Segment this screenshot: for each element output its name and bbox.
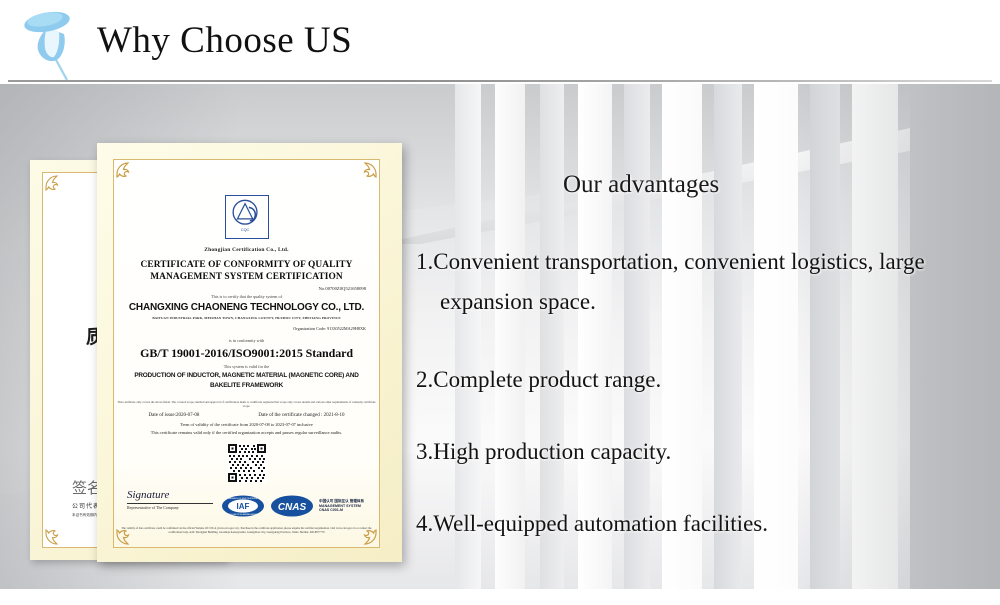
certificate-scope-lead: This system is valid for the: [113, 364, 380, 369]
certificate-validity: Term of validity of the certificate from…: [117, 422, 376, 427]
advantage-item-1: 1.Convenient transportation, convenient …: [416, 242, 1000, 322]
advantages-section: Our advantages 1.Convenient transportati…: [408, 84, 1000, 605]
certificate-signature: Signature: [127, 489, 213, 504]
header: Why Choose US: [0, 0, 1000, 84]
certificate-scope-line2: BAKELITE FRAMEWORK: [119, 381, 374, 391]
svg-text:MEMBER OF MULTILATERAL: MEMBER OF MULTILATERAL: [228, 497, 259, 500]
certificate-number: No.00700Z0Q521658098: [113, 286, 366, 291]
certificate-date-changed: Date of the certificate changed : 2021-8…: [258, 413, 344, 418]
certificate-title: CERTIFICATE OF CONFORMITY OF QUALITY MAN…: [113, 259, 380, 283]
cnas-badge-icon: CNAS: [270, 495, 314, 517]
certificate-footer-note: The validity of data certificate could b…: [121, 527, 372, 535]
cnas-badge-line2: CNAS C001-M: [319, 508, 364, 513]
advantage-item-4: 4.Well-equipped automation facilities.: [416, 504, 768, 544]
certificate-issuer: Zhongjian Certification Co., Ltd.: [113, 247, 380, 253]
why-choose-us-banner: Why Choose US Our advantages 1.Conv: [0, 0, 1000, 605]
advantage-item-2: 2.Complete product range.: [416, 360, 661, 400]
advantage-4-line1: Well-equipped automation facilities.: [433, 511, 768, 536]
certificate-surveillance-note: This certificate remains valid only if t…: [117, 430, 376, 435]
advantage-1-number: 1.: [416, 249, 433, 274]
accreditation-badges: IAF MEMBER OF MULTILATERAL RECOGNITION A…: [221, 495, 364, 517]
advantage-2-line1: Complete product range.: [433, 367, 661, 392]
certificate-scope: PRODUCTION OF INDUCTOR, MAGNETIC MATERIA…: [119, 371, 374, 391]
certificate-legal-note: This certificate only covers the above f…: [117, 400, 376, 409]
certificate-standard: GB/T 19001-2016/ISO9001:2015 Standard: [113, 346, 380, 361]
certificate-scope-line1: PRODUCTION OF INDUCTOR, MAGNETIC MATERIA…: [119, 371, 374, 381]
certificate-signature-block: Signature Representative of The Company: [127, 489, 213, 510]
advantages-heading: Our advantages: [563, 171, 719, 199]
advantage-2-number: 2.: [416, 367, 433, 392]
iaf-badge-icon: IAF MEMBER OF MULTILATERAL RECOGNITION A…: [221, 495, 265, 517]
ornament-corner-icon: [44, 174, 70, 200]
certificate-address: BAITUAN INDUSTRIAL PARK, MEISHAN TOWN, C…: [117, 316, 376, 320]
certificate-title-line2: MANAGEMENT SYSTEM CERTIFICATION: [113, 271, 380, 283]
advantage-1-line2: expansion space.: [416, 282, 1000, 322]
svg-text:IAF: IAF: [237, 502, 250, 511]
certificate-date-of-issue: Date of issue:2020-07-08: [149, 413, 200, 418]
cqc-logo-icon: CQC: [225, 195, 269, 239]
advantage-3-number: 3.: [416, 439, 433, 464]
certificate-front: CQC Zhongjian Certification Co., Ltd. CE…: [97, 143, 402, 562]
pushpin-icon: [14, 6, 88, 82]
advantage-1-line1: Convenient transportation, convenient lo…: [433, 249, 924, 274]
advantage-3-line1: High production capacity.: [433, 439, 671, 464]
ornament-corner-icon: [115, 161, 141, 187]
certificate-title-line1: CERTIFICATE OF CONFORMITY OF QUALITY: [113, 259, 380, 271]
certificate-front-inner: CQC Zhongjian Certification Co., Ltd. CE…: [113, 159, 380, 548]
ornament-corner-icon: [352, 161, 378, 187]
advantage-item-3: 3.High production capacity.: [416, 432, 671, 472]
svg-text:RECOGNITION ARRANGEMENT: RECOGNITION ARRANGEMENT: [227, 513, 261, 516]
certificate-conformity-lead: is in conformity with: [113, 338, 380, 343]
cnas-badge-text: 中国认可 国际互认 管理体系 MANAGEMENT SYSTEM CNAS C0…: [319, 499, 364, 513]
svg-text:CQC: CQC: [240, 228, 249, 232]
ornament-corner-icon: [44, 520, 70, 546]
certificate-company-name: CHANGXING CHAONENG TECHNOLOGY CO., LTD.: [113, 302, 380, 313]
svg-text:CNAS: CNAS: [278, 502, 307, 513]
certificate-signature-caption: Representative of The Company: [127, 505, 213, 510]
certificate-certify-lead: This is to certify that the quality syst…: [113, 294, 380, 299]
qr-code: [227, 443, 267, 483]
page-title: Why Choose US: [97, 19, 352, 62]
certificate-dates: Date of issue:2020-07-08 Date of the cer…: [119, 413, 374, 418]
header-divider: [8, 80, 992, 82]
certificate-organization-code: Organization Code: 91330522MA29H8XK: [113, 326, 366, 331]
advantage-4-number: 4.: [416, 511, 433, 536]
